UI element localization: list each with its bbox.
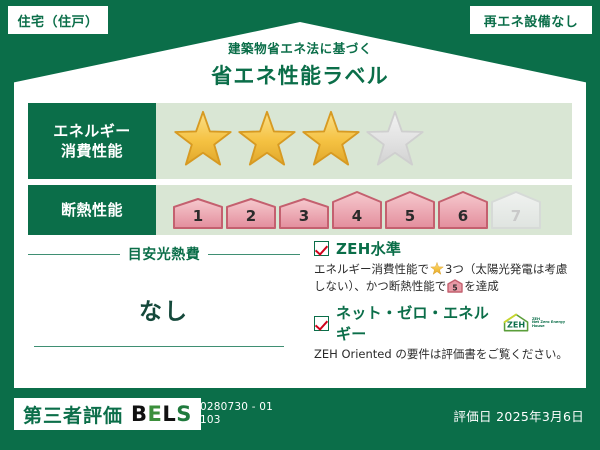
insulation-level-4: 4 (331, 190, 383, 230)
insulation-level-2: 2 (225, 197, 277, 230)
utility-cost-header: 目安光熱費 (28, 244, 300, 264)
row-insulation-label-line1: 断熱性能 (61, 200, 123, 220)
bels-energy-label: 住宅（住戸） 再エネ設備なし 建築物省エネ法に基づく 省エネ性能ラベル エネルギ… (0, 0, 600, 450)
bels-wordmark: BELS (131, 402, 192, 426)
utility-cost-value: なし (28, 292, 300, 326)
certificate-number-line1: 0280730 - 01 (200, 401, 273, 414)
utility-cost-panel: 目安光熱費 なし (28, 238, 300, 386)
star-filled-icon (300, 110, 362, 172)
insulation-level-number: 6 (437, 207, 489, 225)
criterion-zeh-standard-body: エネルギー消費性能で3つ（太陽光発電は考慮しない）、かつ断熱性能で5を達成 (314, 261, 572, 297)
star-icon (430, 262, 444, 276)
insulation-level-7: 7 (490, 190, 542, 230)
star-empty-icon (364, 110, 426, 172)
bels-letter-l: L (162, 402, 176, 426)
insulation-level-number: 2 (225, 207, 277, 225)
house-shape-icon: 5 (447, 279, 463, 293)
evaluation-date: 評価日 2025年3月6日 (453, 406, 584, 425)
insulation-level-number: 7 (490, 207, 542, 225)
badge-renewable-text: 再エネ設備なし (484, 11, 579, 30)
criteria-panel: ZEH水準 エネルギー消費性能で3つ（太陽光発電は考慮しない）、かつ断熱性能で5… (300, 238, 572, 386)
zeh-logo-subtext: ZEH Net Zero Energy House (532, 318, 572, 329)
certificate-number-line2: 103 (200, 414, 273, 427)
badge-house-type-text: 住宅（住戸） (17, 11, 98, 30)
utility-cost-bottom-rule (34, 346, 284, 347)
bels-letter-s: S (176, 402, 192, 426)
svg-text:5: 5 (453, 283, 458, 292)
zeh-logo-icon: ZEH ZEH Net Zero Energy House (502, 311, 572, 335)
insulation-level-1: 1 (172, 197, 224, 230)
zeh-logo-svg: ZEH (502, 311, 531, 335)
title-main: 省エネ性能ラベル (0, 60, 600, 90)
svg-text:ZEH: ZEH (507, 320, 525, 330)
insulation-level-6: 6 (437, 190, 489, 230)
criterion-net-zero-header: ネット・ゼロ・エネルギー ZEH ZEH Net Zero Energy Hou… (314, 302, 572, 344)
zeh-logo-sub2: Net Zero Energy House (532, 320, 565, 328)
checkbox-net-zero-icon[interactable] (314, 316, 329, 331)
bels-letter-b: B (131, 402, 148, 426)
row-insulation-performance: 断熱性能 1234567 (28, 185, 572, 235)
insulation-level-number: 3 (278, 207, 330, 225)
label-footer: 第三者評価 BELS 0280730 - 01 103 評価日 2025年3月6… (0, 392, 600, 450)
performance-rows: エネルギー 消費性能 断熱性能 1234567 (28, 103, 572, 241)
insulation-level-number: 5 (384, 207, 436, 225)
label-title-block: 建築物省エネ法に基づく 省エネ性能ラベル (0, 38, 600, 90)
badge-house-type: 住宅（住戸） (8, 6, 108, 34)
row-insulation-value: 1234567 (156, 185, 572, 235)
row-energy-performance: エネルギー 消費性能 (28, 103, 572, 179)
insulation-level-scale: 1234567 (156, 190, 542, 230)
house-level-5-icon: 5 (447, 279, 463, 298)
badge-renewable-equipment: 再エネ設備なし (470, 6, 592, 34)
row-energy-label-line1: エネルギー (53, 121, 131, 141)
utility-cost-title: 目安光熱費 (128, 244, 201, 264)
insulation-level-3: 3 (278, 197, 330, 230)
insulation-level-number: 4 (331, 207, 383, 225)
criterion-body-part3: を達成 (464, 279, 499, 293)
rule-left (28, 254, 120, 255)
criterion-body-part1: エネルギー消費性能で (314, 262, 429, 276)
bels-badge: 第三者評価 BELS (14, 398, 201, 430)
insulation-level-number: 1 (172, 207, 224, 225)
row-energy-value (156, 103, 572, 179)
criterion-net-zero-body: ZEH Oriented の要件は評価書をご覧ください。 (314, 346, 572, 363)
certificate-number: 0280730 - 01 103 (200, 401, 273, 427)
insulation-level-5: 5 (384, 190, 436, 230)
third-party-evaluation-label: 第三者評価 (23, 401, 123, 428)
row-energy-label-line2: 消費性能 (61, 141, 123, 161)
bottom-panels: 目安光熱費 なし ZEH水準 エネルギー消費性能で3つ（太陽光発電は考慮しない）… (28, 238, 572, 386)
rule-right (208, 254, 300, 255)
star-filled-icon (430, 262, 444, 276)
star-filled-icon (236, 110, 298, 172)
criterion-zeh-standard-header: ZEH水準 (314, 238, 572, 259)
row-insulation-label: 断熱性能 (28, 185, 156, 235)
checkbox-zeh-standard-icon[interactable] (314, 241, 329, 256)
criterion-zeh-standard-title: ZEH水準 (336, 238, 401, 259)
criterion-net-zero-title: ネット・ゼロ・エネルギー (336, 302, 493, 344)
title-subtitle: 建築物省エネ法に基づく (0, 38, 600, 57)
star-filled-icon (172, 110, 234, 172)
row-energy-label: エネルギー 消費性能 (28, 103, 156, 179)
star-rating (156, 110, 426, 172)
bels-letter-e: E (148, 402, 163, 426)
